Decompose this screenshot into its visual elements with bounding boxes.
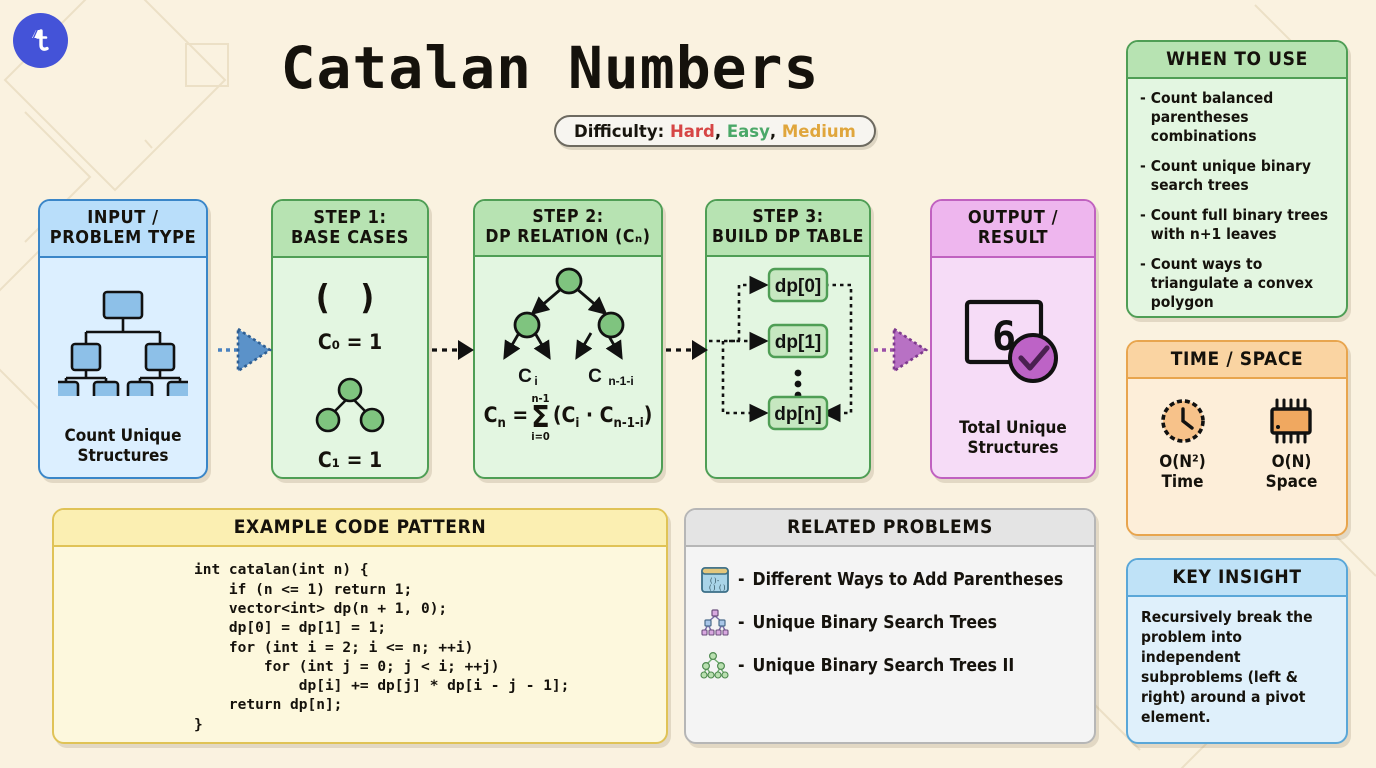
dp-relation-formula: Cn = n-1 Σ i=0 (Ci · Cn-1-i) <box>484 393 653 442</box>
flow-card-step1-head: STEP 1: BASE CASES <box>273 201 427 258</box>
bullet-text: Count unique binary search trees <box>1151 157 1336 195</box>
related-item-dash: - <box>738 613 745 633</box>
flow-card-step3[interactable]: STEP 3: BUILD DP TABLE dp[0] dp[1] <box>705 199 871 479</box>
example-code-panel[interactable]: EXAMPLE CODE PATTERN int catalan(int n) … <box>52 508 668 744</box>
bullet-text: Count ways to triangulate a convex polyg… <box>1151 255 1336 312</box>
bst-tree-green-icon <box>700 651 730 681</box>
example-code-block: int catalan(int n) { if (n <= 1) return … <box>54 547 666 735</box>
time-complexity-item: O(N²) Time <box>1155 395 1211 491</box>
bullet-text: Count balanced parentheses combinations <box>1151 89 1336 146</box>
svg-text:i: i <box>534 374 537 385</box>
key-insight-panel[interactable]: KEY INSIGHT Recursively break the proble… <box>1126 558 1348 744</box>
time-complexity-label: O(N²) Time <box>1159 453 1205 491</box>
list-item[interactable]: () - () () - Different Ways to Add Paren… <box>700 565 1094 595</box>
difficulty-easy: Easy <box>727 122 770 141</box>
list-item: - Count full binary trees with n+1 leave… <box>1140 206 1336 244</box>
related-item-dash: - <box>738 656 745 676</box>
flow-card-step2-body: C i C n-1-i Cn = n-1 Σ i=0 (Ci · Cn-1-i) <box>475 257 661 477</box>
logo-4t-icon <box>24 24 58 58</box>
key-insight-text: Recursively break the problem into indep… <box>1128 597 1346 727</box>
svg-text:dp[1]: dp[1] <box>775 332 821 353</box>
difficulty-medium: Medium <box>782 122 856 141</box>
recursive-tree-icon: C i C n-1-i <box>483 265 653 385</box>
tree-diagram-icon <box>58 278 188 396</box>
flow-card-step3-body: dp[0] dp[1] dp[n] <box>707 257 869 477</box>
arrow-step1-to-step2 <box>432 330 474 370</box>
svg-text:C: C <box>518 366 532 385</box>
flow-card-output-caption: Total Unique Structures <box>959 418 1067 458</box>
flow-card-step3-head: STEP 3: BUILD DP TABLE <box>707 201 869 257</box>
parentheses-card-icon: () - () () <box>700 565 730 595</box>
related-problems-head: RELATED PROBLEMS <box>686 510 1094 547</box>
flow-card-input-head: INPUT / PROBLEM TYPE <box>40 201 206 258</box>
list-item[interactable]: - Unique Binary Search Trees <box>700 608 1094 638</box>
arrow-input-to-step1 <box>218 325 274 375</box>
clock-icon <box>1155 395 1211 447</box>
key-insight-head: KEY INSIGHT <box>1128 560 1346 597</box>
bullet-dash: - <box>1140 157 1146 195</box>
difficulty-hard: Hard <box>670 122 715 141</box>
svg-text:dp[n]: dp[n] <box>774 404 821 425</box>
when-to-use-head: WHEN TO USE <box>1128 42 1346 79</box>
list-item: - Count balanced parentheses combination… <box>1140 89 1336 146</box>
related-problems-list: () - () () - Different Ways to Add Paren… <box>686 547 1094 694</box>
example-code-head: EXAMPLE CODE PATTERN <box>54 510 666 547</box>
svg-text:dp[0]: dp[0] <box>775 276 821 297</box>
flow-card-output[interactable]: OUTPUT / RESULT 6 Total Unique Structure… <box>930 199 1096 479</box>
space-complexity-label: O(N) Space <box>1266 453 1318 491</box>
bullet-text: Count full binary trees with n+1 leaves <box>1151 206 1336 244</box>
svg-text:C: C <box>588 366 602 385</box>
when-to-use-panel[interactable]: WHEN TO USE - Count balanced parentheses… <box>1126 40 1348 318</box>
result-check-icon: 6 <box>957 292 1069 396</box>
svg-text:(): () <box>718 584 726 592</box>
flow-card-input[interactable]: INPUT / PROBLEM TYPE Count Unique Struct… <box>38 199 208 479</box>
site-logo[interactable] <box>13 13 68 68</box>
memory-chip-icon <box>1264 395 1320 447</box>
time-space-panel[interactable]: TIME / SPACE O(N²) Time O(N) <box>1126 340 1348 536</box>
time-space-head: TIME / SPACE <box>1128 342 1346 379</box>
small-tree-icon <box>312 376 388 438</box>
flow-card-step2-head: STEP 2: DP RELATION (Cₙ) <box>475 201 661 257</box>
bullet-dash: - <box>1140 255 1146 312</box>
space-complexity-item: O(N) Space <box>1264 395 1320 491</box>
related-item-label: Unique Binary Search Trees II <box>753 656 1015 676</box>
flow-card-step1[interactable]: STEP 1: BASE CASES ( ) C₀ = 1 C₁ = 1 <box>271 199 429 479</box>
arrow-step2-to-step3 <box>666 330 708 370</box>
related-item-label: Unique Binary Search Trees <box>753 613 998 633</box>
arrow-step3-to-output <box>874 325 930 375</box>
list-item: - Count unique binary search trees <box>1140 157 1336 195</box>
difficulty-badge: Difficulty: Hard , Easy , Medium <box>554 115 876 147</box>
list-item[interactable]: - Unique Binary Search Trees II <box>700 651 1094 681</box>
bst-tree-purple-icon <box>700 608 730 638</box>
flow-card-step2[interactable]: STEP 2: DP RELATION (Cₙ) C i C <box>473 199 663 479</box>
flow-card-input-caption: Count Unique Structures <box>65 426 182 466</box>
base-case-c0: C₀ = 1 <box>318 330 382 354</box>
svg-text:n-1-i: n-1-i <box>608 374 633 385</box>
flow-card-input-body: Count Unique Structures <box>40 258 206 477</box>
svg-text:(): () <box>708 584 716 592</box>
dp-table-icon: dp[0] dp[1] dp[n] <box>707 263 869 448</box>
parentheses-symbol: ( ) <box>316 278 385 318</box>
flow-card-output-body: 6 Total Unique Structures <box>932 258 1094 477</box>
flow-card-output-head: OUTPUT / RESULT <box>932 201 1094 258</box>
list-item: - Count ways to triangulate a convex pol… <box>1140 255 1336 312</box>
flow-card-step1-body: ( ) C₀ = 1 C₁ = 1 <box>273 258 427 477</box>
when-to-use-list: - Count balanced parentheses combination… <box>1128 79 1346 318</box>
difficulty-label: Difficulty: <box>574 122 664 141</box>
bullet-dash: - <box>1140 206 1146 244</box>
base-case-c1: C₁ = 1 <box>318 448 382 472</box>
related-item-label: Different Ways to Add Parentheses <box>753 570 1064 590</box>
page-title: Catalan Numbers <box>0 34 1100 102</box>
bullet-dash: - <box>1140 89 1146 146</box>
related-problems-panel[interactable]: RELATED PROBLEMS () - () () - Different … <box>684 508 1096 744</box>
time-space-row: O(N²) Time O(N) Space <box>1128 379 1346 491</box>
related-item-dash: - <box>738 570 745 590</box>
